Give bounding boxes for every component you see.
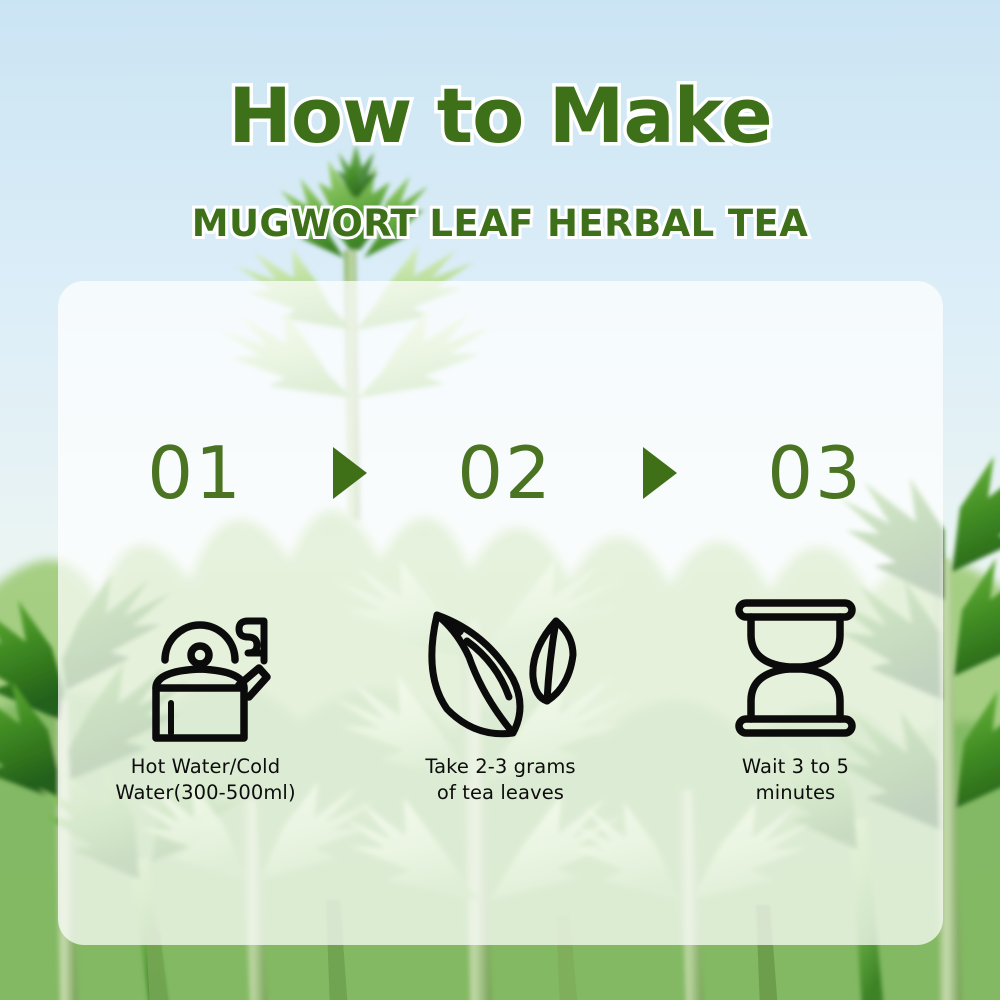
step-numbers-row: 01 02 03: [120, 425, 890, 520]
step-number-01: 01: [120, 437, 270, 509]
step-caption-03: Wait 3 to 5 minutes: [742, 754, 849, 807]
kettle-icon: [131, 593, 281, 743]
step-icon-slot-03: [723, 588, 868, 748]
subtitle-container: MUGWORT LEAF HERBAL TEA: [0, 205, 1000, 242]
arrow-right-icon-2: [643, 447, 677, 499]
page-title: How to Make: [228, 78, 771, 154]
arrow-right-icon-1: [333, 447, 367, 499]
step-caption-01: Hot Water/Cold Water(300-500ml): [115, 754, 295, 807]
step-item-03: Wait 3 to 5 minutes: [648, 588, 943, 838]
step-item-01: Hot Water/Cold Water(300-500ml): [58, 588, 353, 838]
step-icon-slot-01: [131, 588, 281, 748]
infographic-canvas: How to Make MUGWORT LEAF HERBAL TEA 01 0…: [0, 0, 1000, 1000]
step-caption-02: Take 2-3 grams of tea leaves: [425, 754, 575, 807]
page-subtitle: MUGWORT LEAF HERBAL TEA: [192, 205, 808, 242]
step-number-02: 02: [430, 437, 580, 509]
step-number-03: 03: [740, 437, 890, 509]
step-item-02: Take 2-3 grams of tea leaves: [353, 588, 648, 838]
step-details-row: Hot Water/Cold Water(300-500ml): [58, 588, 943, 838]
title-container: How to Make: [0, 78, 1000, 154]
hourglass-icon: [723, 593, 868, 743]
step-icon-slot-02: [413, 588, 588, 748]
tea-leaves-icon: [413, 593, 588, 743]
